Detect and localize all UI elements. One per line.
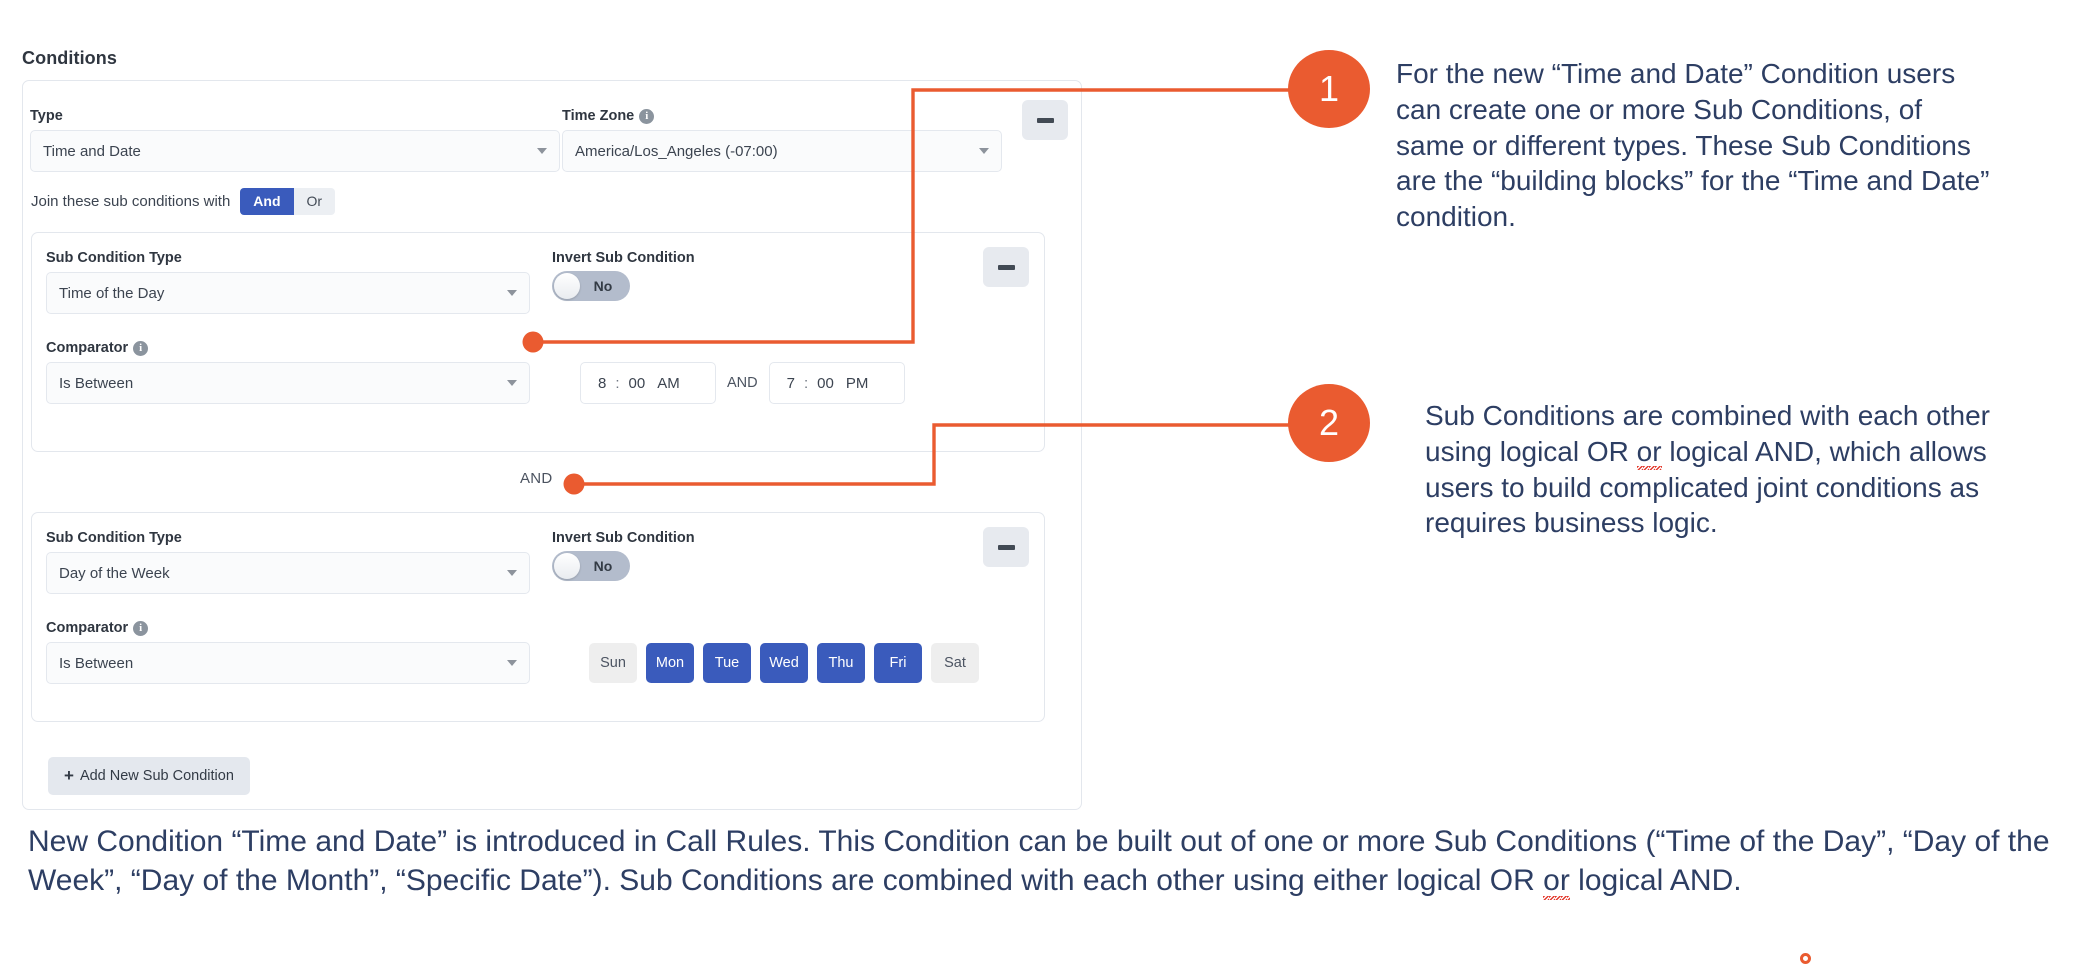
time-to-meridiem: PM [846, 375, 869, 392]
day-pill-sat[interactable]: Sat [931, 643, 979, 683]
time-to-hour: 7 [787, 375, 795, 392]
sub-condition-type-value: Time of the Day [59, 285, 164, 302]
invert-sub-condition-value: No [580, 558, 630, 574]
add-sub-condition-button[interactable]: + Add New Sub Condition [48, 757, 250, 795]
plus-icon: + [64, 767, 74, 784]
time-to-input[interactable]: 7 : 00 PM [769, 362, 905, 404]
info-icon[interactable]: i [133, 341, 148, 356]
callout-text-2: Sub Conditions are combined with each ot… [1425, 398, 2005, 541]
invert-sub-condition-label: Invert Sub Condition [552, 530, 695, 546]
time-zone-label: Time Zone i [562, 108, 654, 124]
join-operator-or[interactable]: Or [294, 188, 336, 215]
time-zone-select-value: America/Los_Angeles (-07:00) [575, 143, 778, 160]
day-pill-thu[interactable]: Thu [817, 643, 865, 683]
time-zone-select[interactable]: America/Los_Angeles (-07:00) [562, 130, 1002, 172]
minus-icon [1037, 118, 1054, 123]
day-pill-sun[interactable]: Sun [589, 643, 637, 683]
chevron-down-icon [507, 660, 517, 666]
sub-condition-type-label-text: Sub Condition Type [46, 530, 182, 546]
sub-condition-card: Sub Condition Type Time of the Day Inver… [31, 232, 1045, 452]
day-pill-fri[interactable]: Fri [874, 643, 922, 683]
type-select[interactable]: Time and Date [30, 130, 560, 172]
chevron-down-icon [979, 148, 989, 154]
remove-condition-button[interactable] [1022, 100, 1068, 140]
chevron-down-icon [507, 570, 517, 576]
sub-condition-type-select[interactable]: Time of the Day [46, 272, 530, 314]
remove-sub-condition-button[interactable] [983, 527, 1029, 567]
invert-sub-condition-toggle[interactable]: No [552, 551, 630, 581]
callout-text-2-misspelled: or [1637, 436, 1662, 470]
page-title: Conditions [22, 48, 117, 69]
time-from-colon: : [615, 375, 619, 392]
chevron-down-icon [507, 290, 517, 296]
type-label: Type [30, 108, 63, 124]
minus-icon [998, 265, 1015, 270]
callout-badge-1: 1 [1288, 50, 1370, 128]
invert-sub-condition-label-text: Invert Sub Condition [552, 530, 695, 546]
callout-badge-2: 2 [1288, 384, 1370, 462]
time-zone-label-text: Time Zone [562, 108, 634, 124]
comparator-label: Comparator i [46, 340, 148, 356]
stray-marker-dot [1800, 953, 1811, 964]
comparator-select[interactable]: Is Between [46, 642, 530, 684]
info-icon[interactable]: i [133, 621, 148, 636]
time-from-input[interactable]: 8 : 00 AM [580, 362, 716, 404]
callout-number: 2 [1319, 402, 1339, 444]
remove-sub-condition-button[interactable] [983, 247, 1029, 287]
invert-sub-condition-label-text: Invert Sub Condition [552, 250, 695, 266]
day-of-week-selector: Sun Mon Tue Wed Thu Fri Sat [589, 643, 979, 683]
invert-sub-condition-value: No [580, 278, 630, 294]
sub-condition-card: Sub Condition Type Day of the Week Inver… [31, 512, 1045, 722]
toggle-knob [554, 553, 580, 579]
type-label-text: Type [30, 108, 63, 124]
toggle-knob [554, 273, 580, 299]
time-to-minute: 00 [817, 375, 834, 392]
comparator-label: Comparator i [46, 620, 148, 636]
comparator-label-text: Comparator [46, 620, 128, 636]
day-pill-wed[interactable]: Wed [760, 643, 808, 683]
comparator-label-text: Comparator [46, 340, 128, 356]
caption-part1: New Condition “Time and Date” is introdu… [28, 825, 2050, 897]
type-select-value: Time and Date [43, 143, 141, 160]
info-icon[interactable]: i [639, 109, 654, 124]
caption-misspelled: or [1543, 864, 1570, 900]
time-from-minute: 00 [629, 375, 646, 392]
chevron-down-icon [507, 380, 517, 386]
callout-text-1: For the new “Time and Date” Condition us… [1396, 56, 1996, 235]
day-pill-tue[interactable]: Tue [703, 643, 751, 683]
invert-sub-condition-toggle[interactable]: No [552, 271, 630, 301]
comparator-value: Is Between [59, 655, 133, 672]
invert-sub-condition-label: Invert Sub Condition [552, 250, 695, 266]
add-sub-condition-label: Add New Sub Condition [80, 768, 234, 784]
join-sub-conditions-row: Join these sub conditions with And Or [31, 188, 335, 215]
time-range-joiner: AND [727, 375, 758, 391]
time-from-hour: 8 [598, 375, 606, 392]
time-from-meridiem: AM [657, 375, 680, 392]
sub-condition-type-label: Sub Condition Type [46, 530, 182, 546]
chevron-down-icon [537, 148, 547, 154]
sub-condition-type-select[interactable]: Day of the Week [46, 552, 530, 594]
comparator-select[interactable]: Is Between [46, 362, 530, 404]
sub-condition-type-label: Sub Condition Type [46, 250, 182, 266]
caption: New Condition “Time and Date” is introdu… [28, 822, 2058, 901]
sub-condition-type-label-text: Sub Condition Type [46, 250, 182, 266]
time-range-row: 8 : 00 AM AND 7 : 00 PM [580, 362, 905, 404]
conditions-panel: Conditions Type Time and Date Time Zone … [0, 0, 1120, 830]
comparator-value: Is Between [59, 375, 133, 392]
sub-condition-joiner-label: AND [520, 470, 553, 487]
join-label: Join these sub conditions with [31, 193, 230, 210]
day-pill-mon[interactable]: Mon [646, 643, 694, 683]
join-operator-and[interactable]: And [240, 188, 293, 215]
time-to-colon: : [804, 375, 808, 392]
sub-condition-type-value: Day of the Week [59, 565, 170, 582]
minus-icon [998, 545, 1015, 550]
join-operator-toggle[interactable]: And Or [240, 188, 335, 215]
caption-part2: logical AND. [1570, 864, 1742, 897]
callout-number: 1 [1319, 68, 1339, 110]
